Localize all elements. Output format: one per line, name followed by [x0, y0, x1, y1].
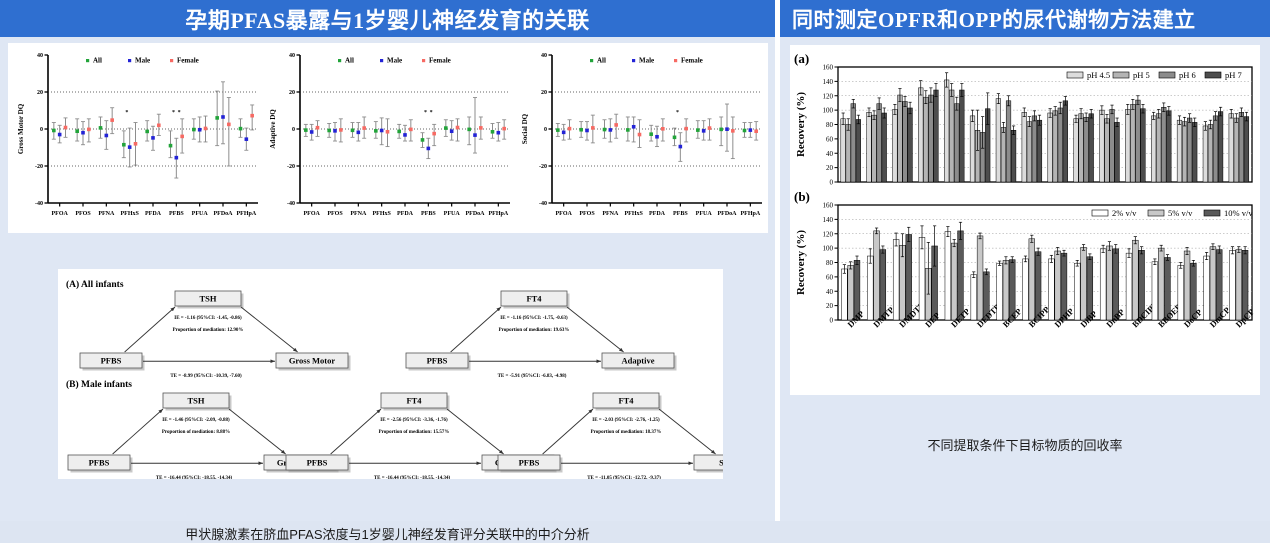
svg-text:PFBS: PFBS [101, 356, 122, 366]
svg-text:PFBS: PFBS [519, 458, 540, 468]
svg-text:Social DQ: Social DQ [521, 113, 529, 144]
svg-text:40: 40 [289, 53, 295, 59]
recovery-charts-svg: (a)020406080100120140160Recovery (%)pH 4… [790, 45, 1260, 395]
svg-text:PFDoA: PFDoA [718, 211, 738, 217]
svg-text:Adaptive DQ: Adaptive DQ [269, 109, 277, 149]
svg-text:PFDA: PFDA [397, 211, 414, 217]
svg-text:PFNA: PFNA [350, 211, 367, 217]
svg-text:PFDA: PFDA [649, 211, 666, 217]
svg-text:All: All [93, 57, 102, 65]
svg-text:-20: -20 [35, 164, 43, 170]
mediation-0-indirect-effect: IE = -1.16 (95%CI: -1.45, -0.86) [174, 316, 242, 321]
mediation-0-total-effect: TE = -8.99 (95%CI: -10.39, -7.60) [170, 374, 242, 379]
svg-text:40: 40 [37, 53, 43, 59]
svg-text:*: * [125, 110, 128, 116]
svg-text:pH 6: pH 6 [1179, 70, 1196, 80]
svg-text:140: 140 [823, 78, 834, 86]
mediation-1-proportion: Proportion of mediation: 19.63% [499, 328, 570, 333]
svg-text:20: 20 [37, 90, 43, 96]
svg-text:FT4: FT4 [618, 396, 634, 406]
svg-text:PFUA: PFUA [444, 211, 461, 217]
svg-text:-40: -40 [539, 201, 547, 207]
svg-text:0: 0 [544, 127, 547, 133]
svg-text:PFOS: PFOS [75, 211, 91, 217]
mediation-1-total-effect: TE = -5.91 (95%CI: -6.83, -4.98) [498, 374, 567, 379]
svg-text:PFHpA: PFHpA [488, 211, 508, 217]
svg-text:PFNA: PFNA [602, 211, 619, 217]
svg-text:Social: Social [719, 458, 723, 468]
svg-text:0: 0 [830, 317, 834, 325]
forest-gross-motor: -40-2002040Gross Motor DQAllMaleFemalePF… [14, 47, 264, 229]
svg-text:0: 0 [40, 127, 43, 133]
svg-text:Female: Female [177, 57, 199, 65]
svg-text:100: 100 [823, 245, 834, 253]
mediation-4-mediator-box: FT4 [593, 393, 662, 411]
svg-text:PFHxS: PFHxS [120, 211, 139, 217]
svg-text:100: 100 [823, 107, 834, 115]
svg-text:(a): (a) [794, 51, 809, 66]
svg-text:Male: Male [387, 57, 402, 65]
right-panel-title: 同时测定OPFR和OPP的尿代谢物方法建立 [792, 4, 1196, 34]
mediation-2-total-effect: TE = -16.44 (95%CI: -18.55, -14.34) [156, 476, 233, 479]
mediation-1-outcome-box: Adaptive [602, 353, 677, 371]
svg-text:PFUA: PFUA [192, 211, 209, 217]
svg-text:PFHpA: PFHpA [236, 211, 256, 217]
svg-text:2% v/v: 2% v/v [1112, 208, 1137, 218]
forest-social: -40-2002040Social DQAllMaleFemalePFOAPFO… [518, 47, 768, 229]
svg-text:pH 4.5: pH 4.5 [1087, 70, 1110, 80]
svg-text:-20: -20 [287, 164, 295, 170]
svg-text:Adaptive: Adaptive [621, 356, 654, 366]
svg-text:PFUA: PFUA [696, 211, 713, 217]
mediation-2-indirect-effect: IE = -1.46 (95%CI: -2.09, -0.88) [162, 418, 230, 423]
mediation-caption: 甲状腺激素在脐血PFAS浓度与1岁婴儿神经发育评分关联中的中介分析 [0, 524, 775, 543]
svg-text:*: * [178, 110, 181, 116]
mediation-2-mediator-box: TSH [163, 393, 232, 411]
forest-plots-card: -40-2002040Gross Motor DQAllMaleFemalePF… [8, 43, 768, 233]
svg-text:-40: -40 [35, 201, 43, 207]
svg-text:Female: Female [681, 57, 703, 65]
svg-text:Female: Female [429, 57, 451, 65]
svg-text:TSH: TSH [187, 396, 204, 406]
mediation-2-proportion: Proportion of mediation: 8.88% [162, 430, 230, 435]
svg-text:(b): (b) [794, 189, 810, 204]
svg-text:pH 7: pH 7 [1225, 70, 1242, 80]
svg-text:(A) All infants: (A) All infants [66, 279, 124, 290]
recovery-acid: (b)020406080100120140160Recovery (%)2% v… [794, 189, 1256, 329]
svg-text:20: 20 [541, 90, 547, 96]
left-panel-title: 孕期PFAS暴露与1岁婴儿神经发育的关联 [185, 3, 589, 35]
mediation-0-exposure-box: PFBS [80, 353, 145, 371]
svg-text:PFBS: PFBS [307, 458, 328, 468]
mediation-diagram-card: (A) All infants(B) Male infantsPFBSTSHGr… [58, 269, 723, 479]
svg-text:All: All [345, 57, 354, 65]
svg-text:40: 40 [826, 150, 834, 158]
svg-text:PFHxS: PFHxS [372, 211, 391, 217]
mediation-3-proportion: Proportion of mediation: 15.57% [379, 430, 450, 435]
left-column: -40-2002040Gross Motor DQAllMaleFemalePF… [0, 37, 775, 521]
right-panel-title-bar: 同时测定OPFR和OPP的尿代谢物方法建立 [775, 0, 1270, 37]
forest-plot-adaptive: -40-2002040Adaptive DQAllMaleFemalePFOAP… [266, 47, 516, 229]
svg-text:80: 80 [826, 259, 834, 267]
svg-text:*: * [676, 110, 679, 116]
mediation-4-proportion: Proportion of mediation: 18.37% [591, 430, 662, 435]
svg-text:PFHxS: PFHxS [624, 211, 643, 217]
svg-text:Male: Male [135, 57, 150, 65]
svg-text:20: 20 [289, 90, 295, 96]
bars-caption: 不同提取条件下目标物质的回收率 [780, 435, 1270, 454]
svg-text:PFBS: PFBS [169, 211, 184, 217]
right-column: (a)020406080100120140160Recovery (%)pH 4… [775, 37, 1270, 521]
svg-text:-20: -20 [539, 164, 547, 170]
svg-text:5% v/v: 5% v/v [1168, 208, 1193, 218]
left-panel-title-bar: 孕期PFAS暴露与1岁婴儿神经发育的关联 [0, 0, 775, 37]
svg-text:60: 60 [826, 135, 834, 143]
svg-text:pH 5: pH 5 [1133, 70, 1150, 80]
svg-text:20: 20 [826, 164, 834, 172]
mediation-3-indirect-effect: IE = -2.56 (95%CI: -3.36, -1.76) [380, 418, 448, 423]
mediation-3-mediator-box: FT4 [381, 393, 450, 411]
svg-text:PFOA: PFOA [303, 211, 320, 217]
forest-plot-social: -40-2002040Social DQAllMaleFemalePFOAPFO… [518, 47, 768, 229]
svg-text:FT4: FT4 [526, 294, 542, 304]
svg-text:*: * [424, 110, 427, 116]
svg-text:PFDoA: PFDoA [466, 211, 486, 217]
svg-text:PFOA: PFOA [555, 211, 572, 217]
forest-adaptive: -40-2002040Adaptive DQAllMaleFemalePFOAP… [266, 47, 516, 229]
svg-text:PFDA: PFDA [145, 211, 162, 217]
svg-text:160: 160 [823, 202, 834, 210]
svg-text:(B) Male infants: (B) Male infants [66, 379, 132, 390]
svg-text:PFBS: PFBS [673, 211, 688, 217]
svg-text:80: 80 [826, 121, 834, 129]
svg-text:0: 0 [830, 179, 834, 187]
svg-text:PFDoA: PFDoA [214, 211, 234, 217]
mediation-svg: (A) All infants(B) Male infantsPFBSTSHGr… [58, 269, 723, 479]
svg-text:40: 40 [541, 53, 547, 59]
recovery-charts-card: (a)020406080100120140160Recovery (%)pH 4… [790, 45, 1260, 395]
svg-text:FT4: FT4 [406, 396, 422, 406]
svg-text:Male: Male [639, 57, 654, 65]
svg-text:All: All [597, 57, 606, 65]
svg-text:-40: -40 [287, 201, 295, 207]
svg-text:Recovery (%): Recovery (%) [795, 230, 807, 295]
svg-text:160: 160 [823, 64, 834, 72]
svg-text:Gross Motor: Gross Motor [289, 356, 336, 366]
recovery-ph: (a)020406080100120140160Recovery (%)pH 4… [794, 51, 1252, 187]
mediation-3-total-effect: TE = -16.44 (95%CI: -18.55, -14.34) [374, 476, 451, 479]
svg-text:20: 20 [826, 302, 834, 310]
svg-text:40: 40 [826, 288, 834, 296]
mediation-0-proportion: Proportion of mediation: 12.90% [173, 328, 244, 333]
mediation-4-total-effect: TE = -11.05 (95%CI: -12.72, -9.37) [587, 476, 661, 479]
mediation-4-outcome-box: Social [694, 455, 723, 473]
svg-text:140: 140 [823, 216, 834, 224]
svg-text:0: 0 [292, 127, 295, 133]
svg-text:PFOS: PFOS [579, 211, 595, 217]
forest-plot-gross-motor: -40-2002040Gross Motor DQAllMaleFemalePF… [14, 47, 264, 229]
svg-text:*: * [430, 110, 433, 116]
mediation-3-exposure-box: PFBS [286, 455, 351, 473]
mediation-2-exposure-box: PFBS [68, 455, 133, 473]
svg-text:PFOS: PFOS [327, 211, 343, 217]
svg-text:Recovery (%): Recovery (%) [795, 92, 807, 157]
svg-text:PFOA: PFOA [51, 211, 68, 217]
mediation-0-mediator-box: TSH [175, 291, 244, 309]
svg-text:120: 120 [823, 92, 834, 100]
svg-text:PFBS: PFBS [89, 458, 110, 468]
svg-text:120: 120 [823, 230, 834, 238]
mediation-1-indirect-effect: IE = -1.16 (95%CI: -1.75, -0.63) [500, 316, 568, 321]
svg-text:10% v/v: 10% v/v [1224, 208, 1253, 218]
svg-text:PFNA: PFNA [98, 211, 115, 217]
mediation-1-mediator-box: FT4 [501, 291, 570, 309]
mediation-4-exposure-box: PFBS [498, 455, 563, 473]
svg-text:*: * [172, 110, 175, 116]
mediation-1-exposure-box: PFBS [406, 353, 471, 371]
svg-text:PFHpA: PFHpA [740, 211, 760, 217]
mediation-4-indirect-effect: IE = -2.03 (95%CI: -2.76, -1.25) [592, 418, 660, 423]
mediation-0-outcome-box: Gross Motor [276, 353, 351, 371]
svg-text:PFBS: PFBS [427, 356, 448, 366]
svg-text:Gross Motor DQ: Gross Motor DQ [17, 103, 25, 154]
svg-text:TSH: TSH [199, 294, 216, 304]
svg-text:60: 60 [826, 273, 834, 281]
svg-text:PFBS: PFBS [421, 211, 436, 217]
